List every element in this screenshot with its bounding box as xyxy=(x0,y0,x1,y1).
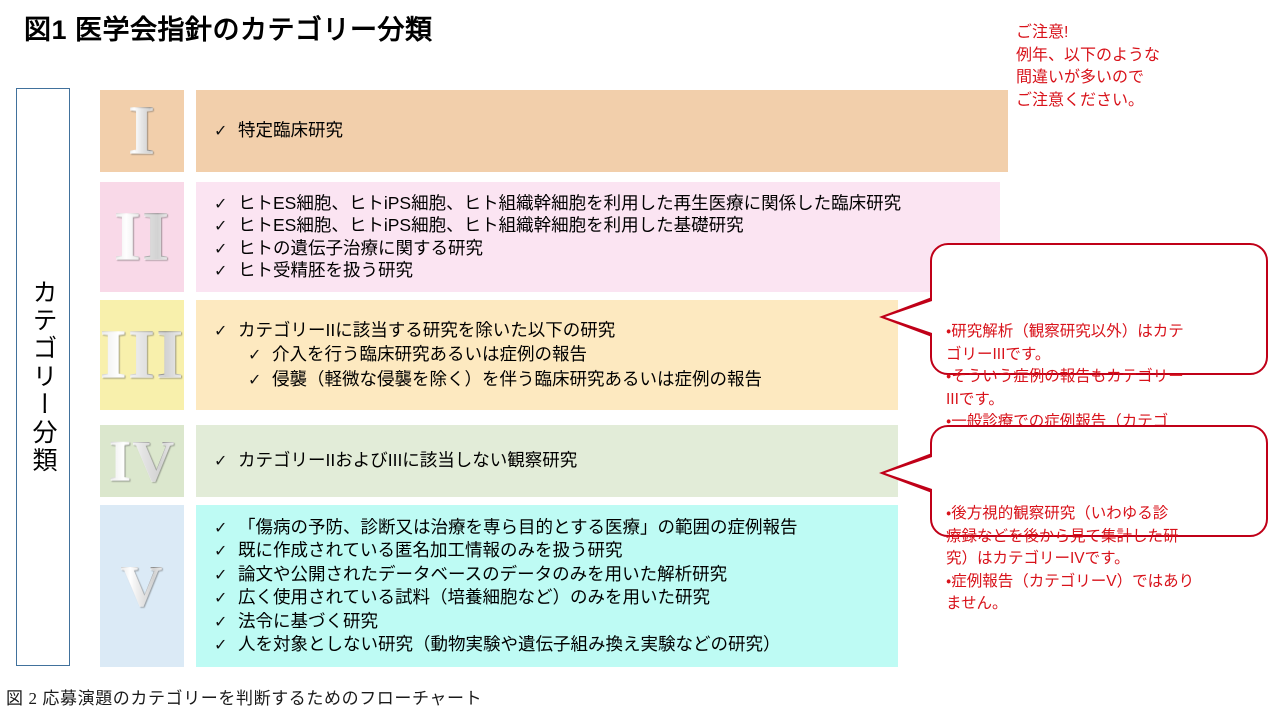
category-row-2: II ✓ ヒトES細胞、ヒトiPS細胞、ヒト組織幹細胞を利用した再生医療に関係し… xyxy=(100,182,1012,292)
list-item-label: 論文や公開されたデータベースのデータのみを用いた解析研究 xyxy=(238,566,727,584)
check-icon: ✓ xyxy=(214,241,238,257)
list-item: ✓ 論文や公開されたデータベースのデータのみを用いた解析研究 xyxy=(214,566,888,584)
check-icon: ✓ xyxy=(214,453,238,469)
list-item-label: ヒトES細胞、ヒトiPS細胞、ヒト組織幹細胞を利用した再生医療に関係した臨床研究 xyxy=(238,195,901,213)
list-item-label: ヒト受精胚を扱う研究 xyxy=(238,262,413,280)
category-numeral-cell-4: IV xyxy=(100,425,184,497)
list-item: ✓ ヒト受精胚を扱う研究 xyxy=(214,262,990,280)
list-item-label: ヒトの遺伝子治療に関する研究 xyxy=(238,240,483,258)
list-item: ✓ ヒトの遺伝子治療に関する研究 xyxy=(214,240,990,258)
list-item-label: ヒトES細胞、ヒトiPS細胞、ヒト組織幹細胞を利用した基礎研究 xyxy=(238,217,744,235)
category-content-2: ✓ ヒトES細胞、ヒトiPS細胞、ヒト組織幹細胞を利用した再生医療に関係した臨床… xyxy=(196,182,1000,292)
list-item-label: 介入を行う臨床研究あるいは症例の報告 xyxy=(272,346,587,364)
roman-numeral-2: II xyxy=(114,202,170,272)
figure-caption: 図 2 応募演題のカテゴリーを判断するためのフローチャート xyxy=(6,684,482,709)
list-item: ✓ 法令に基づく研究 xyxy=(214,613,888,631)
check-icon: ✓ xyxy=(214,263,238,279)
check-icon: ✓ xyxy=(248,372,272,388)
list-item-label: 既に作成されている匿名加工情報のみを扱う研究 xyxy=(238,542,622,560)
list-item: ✓ ヒトES細胞、ヒトiPS細胞、ヒト組織幹細胞を利用した再生医療に関係した臨床… xyxy=(214,195,990,213)
callout-tail-inner-icon xyxy=(885,457,932,489)
check-icon: ✓ xyxy=(214,543,238,559)
caution-note: ご注意! 例年、以下のような 間違いが多いので ご注意ください。 xyxy=(1016,22,1160,113)
category-axis-box: カテゴリー分類 xyxy=(16,88,70,666)
roman-numeral-3: III xyxy=(100,320,185,390)
page-title: 図1 医学会指針のカテゴリー分類 xyxy=(24,8,433,47)
check-icon: ✓ xyxy=(214,614,238,630)
list-item: ✓ ヒトES細胞、ヒトiPS細胞、ヒト組織幹細胞を利用した基礎研究 xyxy=(214,217,990,235)
list-item: ✓ 広く使用されている試料（培養細胞など）のみを用いた研究 xyxy=(214,589,888,607)
list-item-label: 人を対象としない研究（動物実験や遺伝子組み換え実験などの研究） xyxy=(238,636,781,654)
list-item: ✓ カテゴリーIIに該当する研究を除いた以下の研究 xyxy=(214,322,888,340)
list-item-label: 特定臨床研究 xyxy=(238,122,343,140)
category-content-1: ✓ 特定臨床研究 xyxy=(196,90,1008,172)
check-icon: ✓ xyxy=(214,196,238,212)
category-row-4: IV ✓ カテゴリーIIおよびIIIに該当しない観察研究 xyxy=(100,425,910,497)
category-row-1: I ✓ 特定臨床研究 xyxy=(100,90,1020,172)
roman-numeral-1: I xyxy=(128,96,156,166)
list-item-label: 侵襲（軽微な侵襲を除く）を伴う臨床研究あるいは症例の報告 xyxy=(272,371,762,389)
category-row-5: V ✓ 「傷病の予防、診断又は治療を専ら目的とする医療」の範囲の症例報告 ✓ 既… xyxy=(100,505,910,667)
list-item-label: カテゴリーIIに該当する研究を除いた以下の研究 xyxy=(238,322,615,340)
callout-category-4: ・後方視的観察研究（いわゆる診 療録などを後から見て集計した研 究）はカテゴリー… xyxy=(930,425,1268,537)
category-axis-label: カテゴリー分類 xyxy=(27,279,59,475)
category-content-4: ✓ カテゴリーIIおよびIIIに該当しない観察研究 xyxy=(196,425,898,497)
list-item-label: カテゴリーIIおよびIIIに該当しない観察研究 xyxy=(238,452,577,470)
list-item: ✓ カテゴリーIIおよびIIIに該当しない観察研究 xyxy=(214,452,888,470)
list-item-label: 法令に基づく研究 xyxy=(238,613,378,631)
list-item-label: 広く使用されている試料（培養細胞など）のみを用いた研究 xyxy=(238,589,710,607)
category-numeral-cell-3: III xyxy=(100,300,184,410)
category-numeral-cell-5: V xyxy=(100,505,184,667)
check-icon: ✓ xyxy=(214,637,238,653)
list-item: ✓ 「傷病の予防、診断又は治療を専ら目的とする医療」の範囲の症例報告 xyxy=(214,519,888,537)
check-icon: ✓ xyxy=(214,323,238,339)
check-icon: ✓ xyxy=(214,520,238,536)
check-icon: ✓ xyxy=(214,123,238,139)
list-item: ✓ 人を対象としない研究（動物実験や遺伝子組み換え実験などの研究） xyxy=(214,636,888,654)
callout-category-3: ・研究解析（観察研究以外）はカテ ゴリーIIIです。 ・そういう症例の報告もカテ… xyxy=(930,243,1268,375)
check-icon: ✓ xyxy=(248,347,272,363)
category-numeral-cell-1: I xyxy=(100,90,184,172)
list-item: ✓ 侵襲（軽微な侵襲を除く）を伴う臨床研究あるいは症例の報告 xyxy=(214,371,888,389)
category-content-3: ✓ カテゴリーIIに該当する研究を除いた以下の研究 ✓ 介入を行う臨床研究あるい… xyxy=(196,300,898,410)
check-icon: ✓ xyxy=(214,567,238,583)
list-item-label: 「傷病の予防、診断又は治療を専ら目的とする医療」の範囲の症例報告 xyxy=(238,519,797,537)
roman-numeral-5: V xyxy=(121,557,164,615)
roman-numeral-4: IV xyxy=(109,432,175,490)
check-icon: ✓ xyxy=(214,218,238,234)
list-item: ✓ 介入を行う臨床研究あるいは症例の報告 xyxy=(214,346,888,364)
category-content-5: ✓ 「傷病の予防、診断又は治療を専ら目的とする医療」の範囲の症例報告 ✓ 既に作… xyxy=(196,505,898,667)
list-item: ✓ 既に作成されている匿名加工情報のみを扱う研究 xyxy=(214,542,888,560)
list-item: ✓ 特定臨床研究 xyxy=(214,122,998,140)
callout-tail-inner-icon xyxy=(885,301,932,333)
category-row-3: III ✓ カテゴリーIIに該当する研究を除いた以下の研究 ✓ 介入を行う臨床研… xyxy=(100,300,910,410)
callout-text: ・後方視的観察研究（いわゆる診 療録などを後から見て集計した研 究）はカテゴリー… xyxy=(946,505,1194,613)
category-numeral-cell-2: II xyxy=(100,182,184,292)
check-icon: ✓ xyxy=(214,590,238,606)
